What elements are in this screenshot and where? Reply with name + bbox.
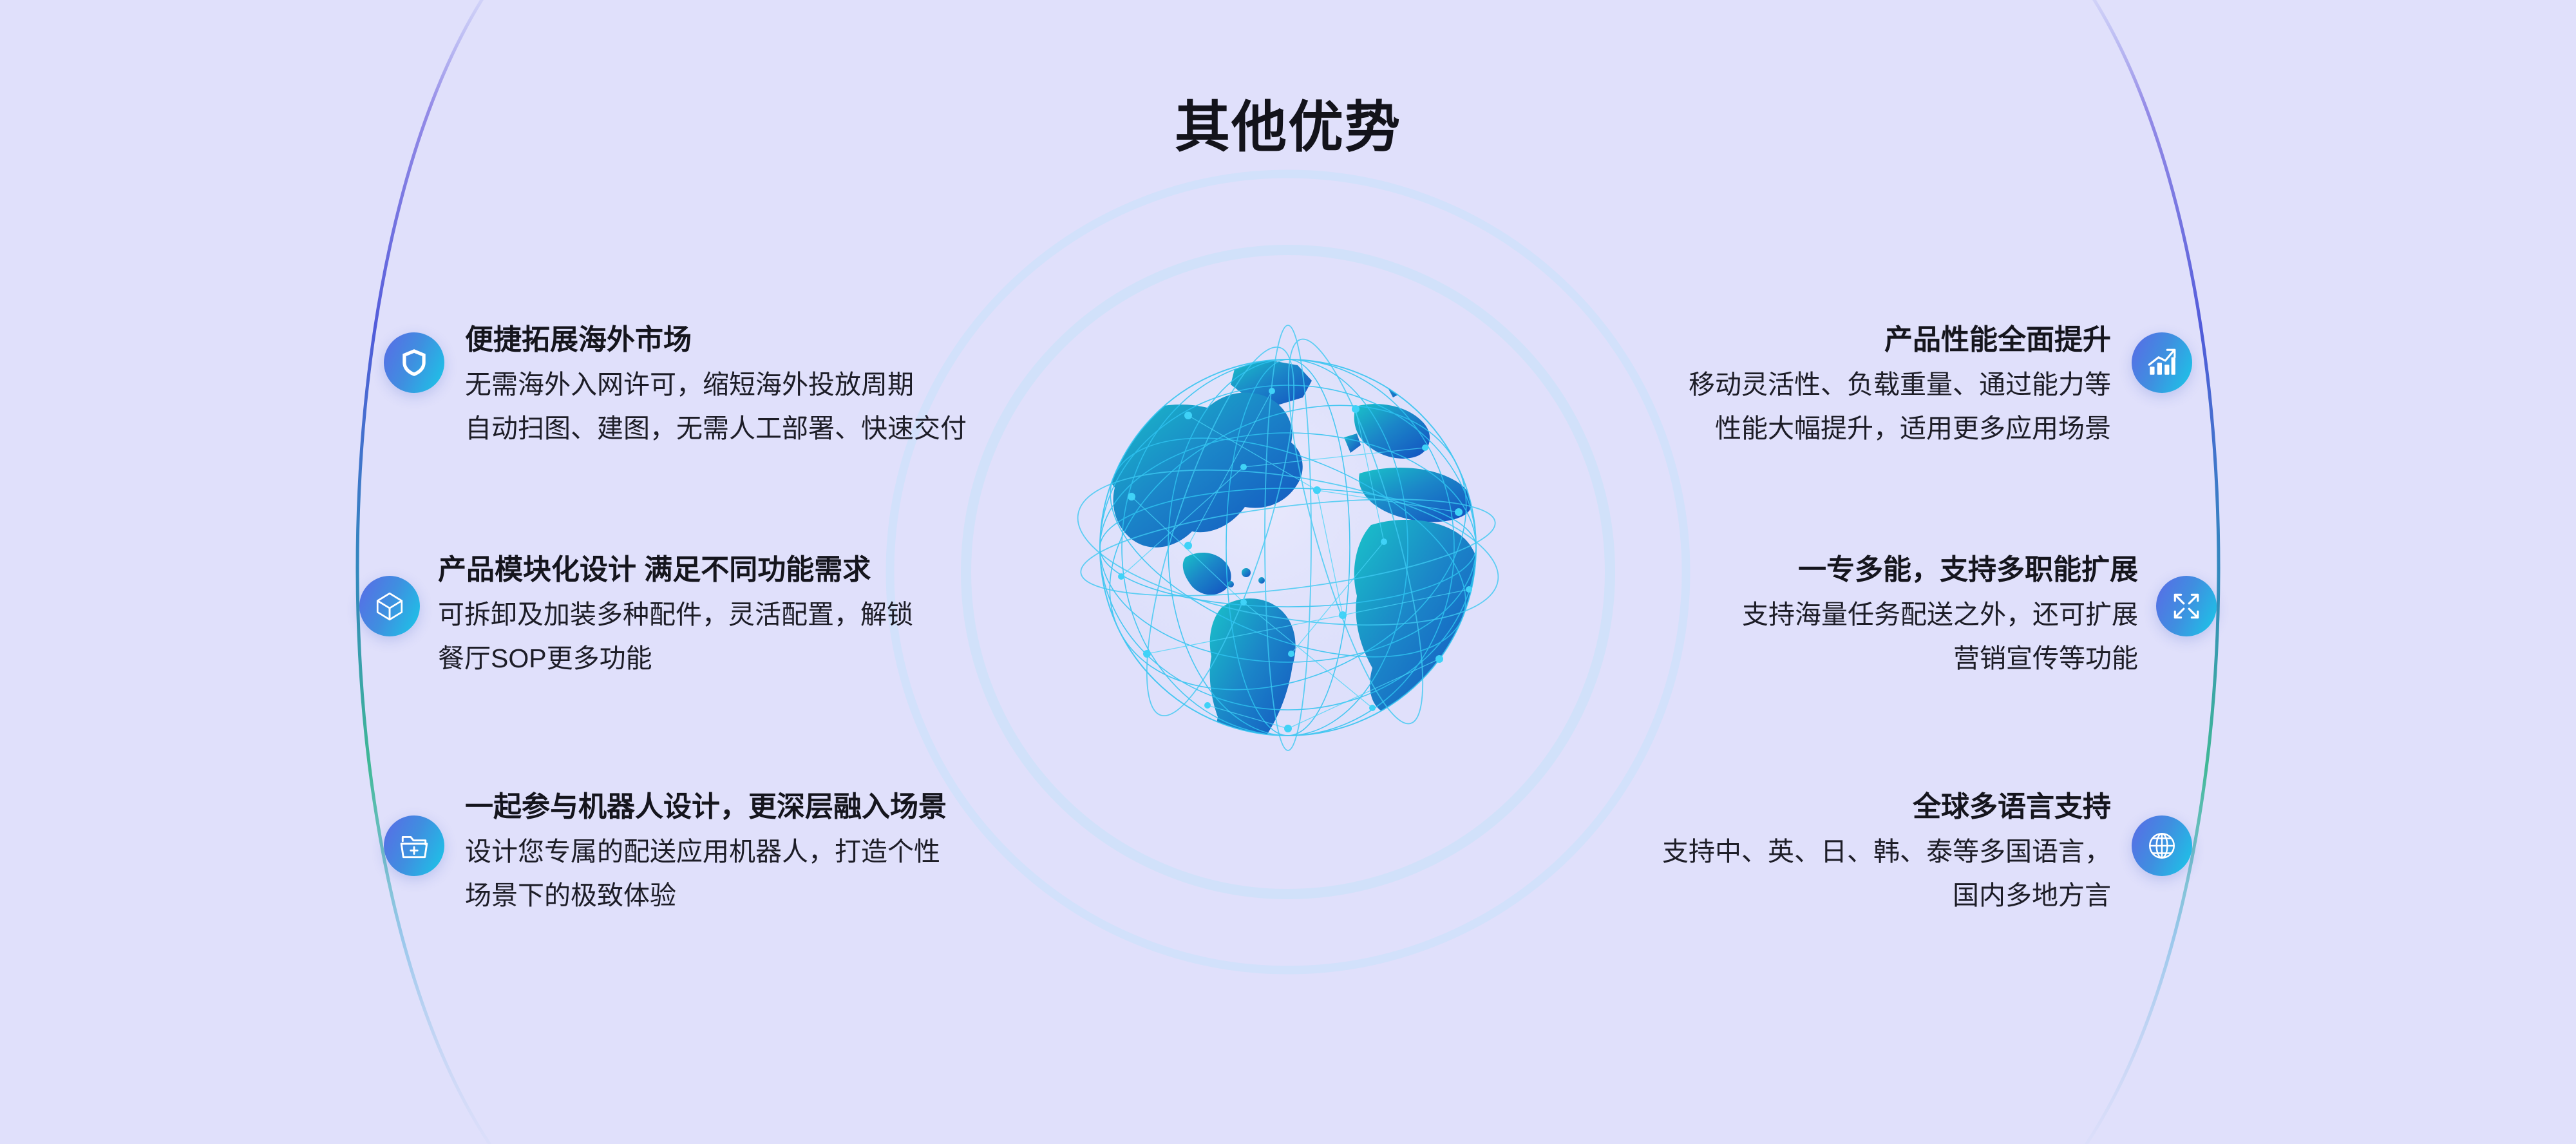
feature-line: 无需海外入网许可，缩短海外投放周期 [465, 372, 967, 398]
folder-plus-icon [398, 830, 430, 862]
globe-network-illustration [995, 254, 1581, 841]
advantages-section: 其他优势 [0, 0, 2576, 1144]
feature-badge-right-2[interactable] [2156, 576, 2217, 636]
feature-title: 便捷拓展海外市场 [465, 326, 967, 354]
feature-line: 国内多地方言 [1662, 882, 2111, 909]
feature-badge-left-3[interactable] [384, 815, 444, 876]
feature-badge-right-3[interactable] [2132, 815, 2192, 876]
feature-line: 支持海量任务配送之外，还可扩展 [1742, 602, 2138, 628]
feature-line: 场景下的极致体验 [465, 882, 947, 909]
feature-badge-left-1[interactable] [384, 332, 444, 393]
feature-left-1: 便捷拓展海外市场 无需海外入网许可，缩短海外投放周期 自动扫图、建图，无需人工部… [465, 326, 967, 442]
expand-arrows-icon [2170, 590, 2202, 622]
growth-chart-icon [2146, 347, 2178, 379]
feature-line: 自动扫图、建图，无需人工部署、快速交付 [465, 415, 967, 442]
feature-right-3: 全球多语言支持 支持中、英、日、韩、泰等多国语言， 国内多地方言 [1662, 793, 2111, 909]
feature-title: 一专多能，支持多职能扩展 [1742, 556, 2138, 584]
feature-line: 移动灵活性、负载重量、通过能力等 [1689, 372, 2111, 398]
feature-title: 产品模块化设计 满足不同功能需求 [438, 556, 913, 584]
feature-right-2: 一专多能，支持多职能扩展 支持海量任务配送之外，还可扩展 营销宣传等功能 [1742, 556, 2138, 672]
feature-right-1: 产品性能全面提升 移动灵活性、负载重量、通过能力等 性能大幅提升，适用更多应用场… [1689, 326, 2111, 442]
globe-icon [2146, 830, 2178, 862]
feature-line: 性能大幅提升，适用更多应用场景 [1689, 415, 2111, 442]
feature-line: 可拆卸及加装多种配件，灵活配置，解锁 [438, 602, 913, 628]
feature-title: 一起参与机器人设计，更深层融入场景 [465, 793, 947, 821]
feature-badge-right-1[interactable] [2132, 332, 2192, 393]
feature-line: 营销宣传等功能 [1742, 645, 2138, 672]
globe-svg [995, 254, 1581, 841]
feature-title: 全球多语言支持 [1662, 793, 2111, 821]
feature-line: 设计您专属的配送应用机器人，打造个性 [465, 839, 947, 865]
cube-icon [374, 590, 406, 622]
feature-left-3: 一起参与机器人设计，更深层融入场景 设计您专属的配送应用机器人，打造个性 场景下… [465, 793, 947, 909]
feature-line: 支持中、英、日、韩、泰等多国语言， [1662, 839, 2111, 865]
feature-title: 产品性能全面提升 [1689, 326, 2111, 354]
feature-line: 餐厅SOP更多功能 [438, 645, 913, 672]
shield-icon [398, 347, 430, 379]
page-title: 其他优势 [0, 100, 2576, 155]
feature-left-2: 产品模块化设计 满足不同功能需求 可拆卸及加装多种配件，灵活配置，解锁 餐厅SO… [438, 556, 913, 672]
feature-badge-left-2[interactable] [359, 576, 420, 636]
